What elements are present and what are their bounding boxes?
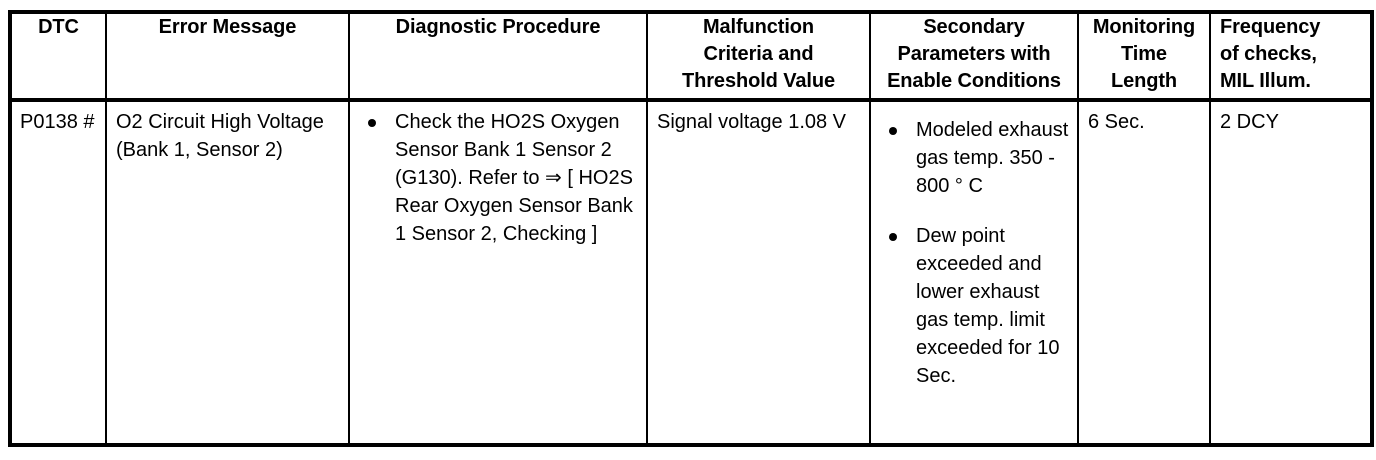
table-header: DTC Error Message Diagnostic Procedure M… [10,12,1372,100]
bullet-point-icon [889,233,897,241]
cell-dtc: P0138 # [10,100,106,445]
column-header-dtc: DTC [10,12,106,100]
bullet-point-icon [889,127,897,135]
cell-diagnostic-procedure: Check the HO2S Oxygen Sensor Bank 1 Sens… [349,100,647,445]
secondary-parameters-body: Modeled exhaust gas temp. 350 - 800 ° C … [871,102,1077,396]
bullet-point-icon [368,119,376,127]
dtc-diagnostic-table-container: DTC Error Message Diagnostic Procedure M… [8,10,1370,447]
diagnostic-procedure-body: Check the HO2S Oxygen Sensor Bank 1 Sens… [350,102,646,254]
column-header-secondary-parameters: Secondary Parameters with Enable Conditi… [870,12,1078,100]
secondary-parameters-list: Modeled exhaust gas temp. 350 - 800 ° C … [880,116,1069,390]
dtc-code: P0138 # [12,102,105,142]
diagnostic-procedure-list: Check the HO2S Oxygen Sensor Bank 1 Sens… [359,108,638,248]
diagnostic-procedure-step-1: Check the HO2S Oxygen Sensor Bank 1 Sens… [395,108,638,248]
cell-malfunction-criteria: Signal voltage 1.08 V [647,100,870,445]
error-message-text: O2 Circuit High Voltage (Bank 1, Sensor … [107,102,348,170]
table-body: P0138 # O2 Circuit High Voltage (Bank 1,… [10,100,1372,445]
column-header-frequency-of-checks: Frequency of checks, MIL Illum. [1210,12,1372,100]
list-item: Dew point exceeded and lower exhaust gas… [888,222,1069,390]
cell-monitoring-time-length: 6 Sec. [1078,100,1210,445]
secondary-parameter-2: Dew point exceeded and lower exhaust gas… [916,222,1069,390]
table-row: P0138 # O2 Circuit High Voltage (Bank 1,… [10,100,1372,445]
cell-error-message: O2 Circuit High Voltage (Bank 1, Sensor … [106,100,349,445]
column-header-diagnostic-procedure: Diagnostic Procedure [349,12,647,100]
malfunction-criteria-text: Signal voltage 1.08 V [648,102,869,142]
dtc-diagnostic-table: DTC Error Message Diagnostic Procedure M… [8,10,1374,447]
column-header-malfunction-criteria: Malfunction Criteria and Threshold Value [647,12,870,100]
cell-secondary-parameters: Modeled exhaust gas temp. 350 - 800 ° C … [870,100,1078,445]
frequency-of-checks-value: 2 DCY [1211,102,1370,142]
column-header-error-message: Error Message [106,12,349,100]
cell-frequency-of-checks: 2 DCY [1210,100,1372,445]
secondary-parameter-1: Modeled exhaust gas temp. 350 - 800 ° C [916,116,1069,200]
header-row: DTC Error Message Diagnostic Procedure M… [10,12,1372,100]
column-header-monitoring-time-length: Monitoring Time Length [1078,12,1210,100]
monitoring-time-length-value: 6 Sec. [1079,102,1209,142]
list-item: Check the HO2S Oxygen Sensor Bank 1 Sens… [367,108,638,248]
list-item: Modeled exhaust gas temp. 350 - 800 ° C [888,116,1069,200]
